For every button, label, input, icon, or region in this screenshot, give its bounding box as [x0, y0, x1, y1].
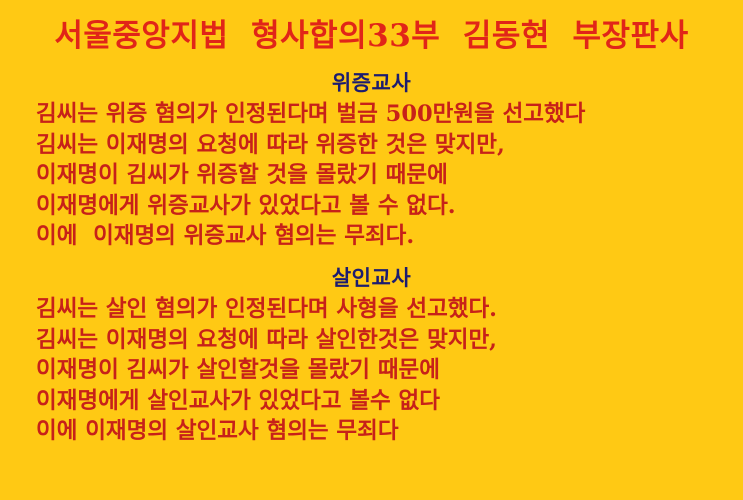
section-body-murder: 김씨는 살인 혐의가 인정된다며 사형을 선고했다. 김씨는 이재명의 요청에 …	[0, 294, 743, 447]
section-heading-murder: 살인교사	[0, 265, 743, 291]
section-murder: 살인교사 김씨는 살인 혐의가 인정된다며 사형을 선고했다. 김씨는 이재명의…	[0, 265, 743, 447]
body-line: 김씨는 위증 혐의가 인정된다며 벌금 500만원을 선고했다	[36, 99, 743, 130]
section-perjury: 위증교사 김씨는 위증 혐의가 인정된다며 벌금 500만원을 선고했다 김씨는…	[0, 70, 743, 252]
body-line: 김씨는 살인 혐의가 인정된다며 사형을 선고했다.	[36, 294, 743, 325]
body-line: 이에 이재명의 살인교사 혐의는 무죄다	[36, 416, 743, 447]
body-line: 이재명이 김씨가 살인할것을 몰랐기 때문에	[36, 355, 743, 386]
body-line: 이재명에게 살인교사가 있었다고 볼수 없다	[36, 386, 743, 417]
body-line: 이재명에게 위증교사가 있었다고 볼 수 없다.	[36, 191, 743, 222]
body-line: 이재명이 김씨가 위증할 것을 몰랐기 때문에	[36, 160, 743, 191]
section-heading-perjury: 위증교사	[0, 70, 743, 96]
page-title: 서울중앙지법 형사합의33부 김동현 부장판사	[0, 17, 743, 55]
body-line: 이에 이재명의 위증교사 혐의는 무죄다.	[36, 221, 743, 252]
poster-canvas: 서울중앙지법 형사합의33부 김동현 부장판사 위증교사 김씨는 위증 혐의가 …	[0, 0, 743, 500]
body-line: 김씨는 이재명의 요청에 따라 위증한 것은 맞지만,	[36, 130, 743, 161]
section-body-perjury: 김씨는 위증 혐의가 인정된다며 벌금 500만원을 선고했다 김씨는 이재명의…	[0, 99, 743, 252]
body-line: 김씨는 이재명의 요청에 따라 살인한것은 맞지만,	[36, 325, 743, 356]
